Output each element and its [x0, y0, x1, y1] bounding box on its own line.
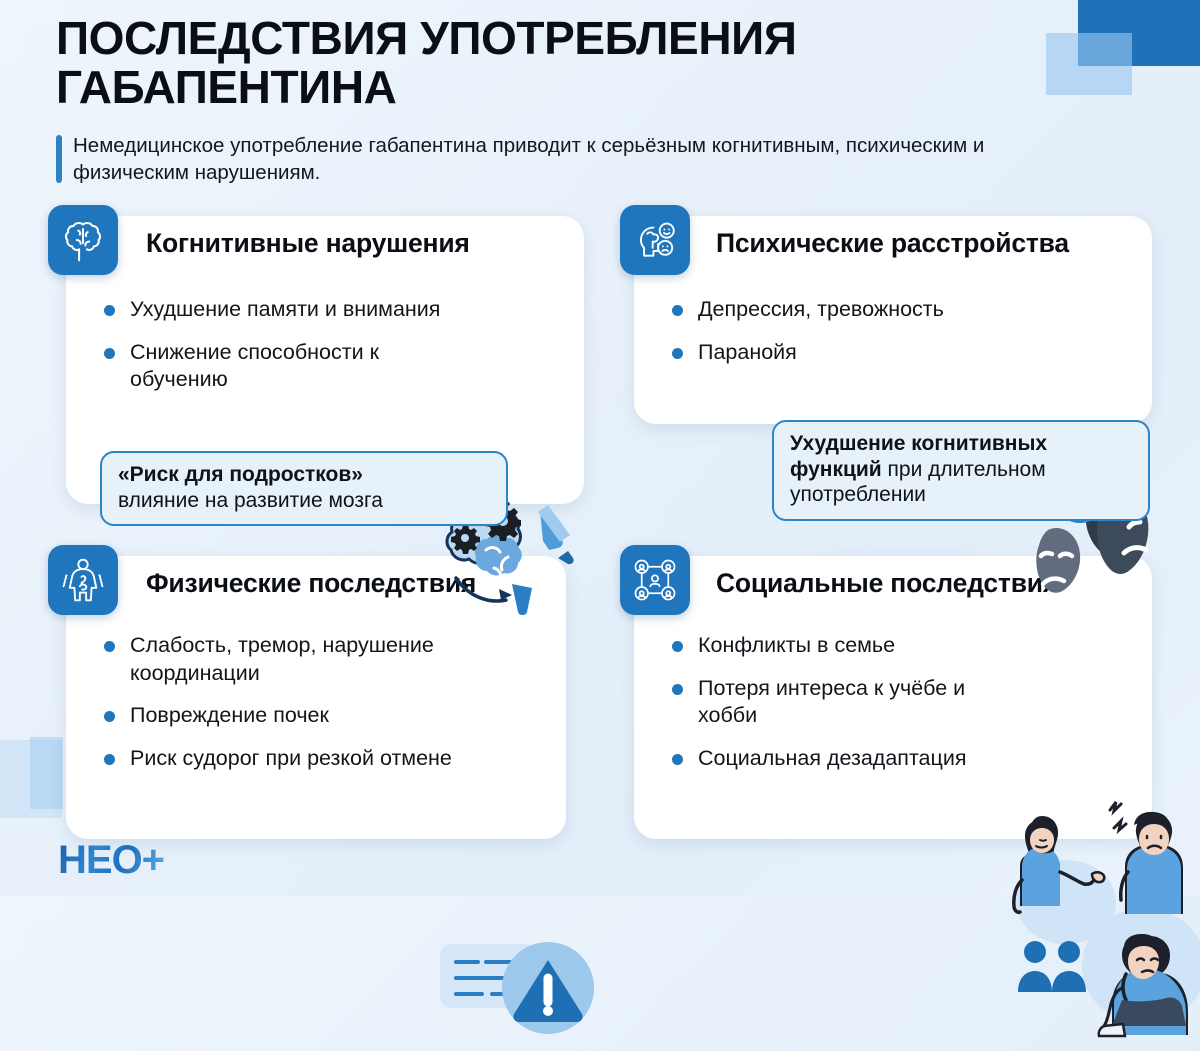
people-network-icon [620, 545, 690, 615]
list-item: Паранойя [672, 339, 1052, 367]
list-item: Риск судорог при резкой отмене [104, 745, 504, 773]
card-title-social: Социальные последствия [716, 568, 1058, 599]
header: ПОСЛЕДСТВИЯ УПОТРЕБЛЕНИЯ ГАБАПЕНТИНА Нем… [56, 14, 1056, 186]
bullet-list-social: Конфликты в семье Потеря интереса к учёб… [672, 632, 1002, 772]
callout-teen-rest: влияние на развитие мозга [118, 489, 383, 512]
card-title-mental: Психические расстройства [716, 228, 1069, 259]
list-item: Потеря интереса к учёбе и хобби [672, 675, 1002, 730]
callout-teen-bold: «Риск для подростков» [118, 463, 363, 486]
cards-grid: Когнитивные нарушения Ухудшение памяти и… [0, 196, 1200, 856]
brand-logo: НЕО+ [58, 838, 164, 883]
list-item: Снижение способности к обучению [104, 339, 464, 394]
page-title: ПОСЛЕДСТВИЯ УПОТРЕБЛЕНИЯ ГАБАПЕНТИНА [56, 14, 1056, 112]
bullet-list-cognitive: Ухудшение памяти и внимания Снижение спо… [104, 296, 464, 394]
list-item: Ухудшение памяти и внимания [104, 296, 464, 324]
brain-icon [48, 205, 118, 275]
bullet-list-physical: Слабость, тремор, нарушение координации … [104, 632, 504, 772]
card-title-physical: Физические последствия [146, 568, 476, 599]
bullet-list-mental: Депрессия, тревожность Паранойя [672, 296, 1052, 366]
list-item: Повреждение почек [104, 702, 504, 730]
subtitle-accent-bar [56, 135, 62, 184]
card-title-cognitive: Когнитивные нарушения [146, 228, 470, 259]
decorative-square-light [1046, 33, 1132, 95]
list-item: Социальная дезадаптация [672, 745, 1002, 773]
subtitle-block: Немедицинское употребление габапентина п… [56, 132, 1016, 187]
warning-alert-illustration [440, 932, 598, 1040]
callout-long-term-use: Ухудшение когнитивных функций при длител… [772, 420, 1150, 521]
list-item: Конфликты в семье [672, 632, 1002, 660]
callout-teen-risk: «Риск для подростков» влияние на развити… [100, 451, 508, 526]
list-item: Слабость, тремор, нарушение координации [104, 632, 504, 687]
human-body-icon [48, 545, 118, 615]
subtitle-text: Немедицинское употребление габапентина п… [73, 132, 1016, 187]
head-with-emotions-icon [620, 205, 690, 275]
list-item: Депрессия, тревожность [672, 296, 1052, 324]
